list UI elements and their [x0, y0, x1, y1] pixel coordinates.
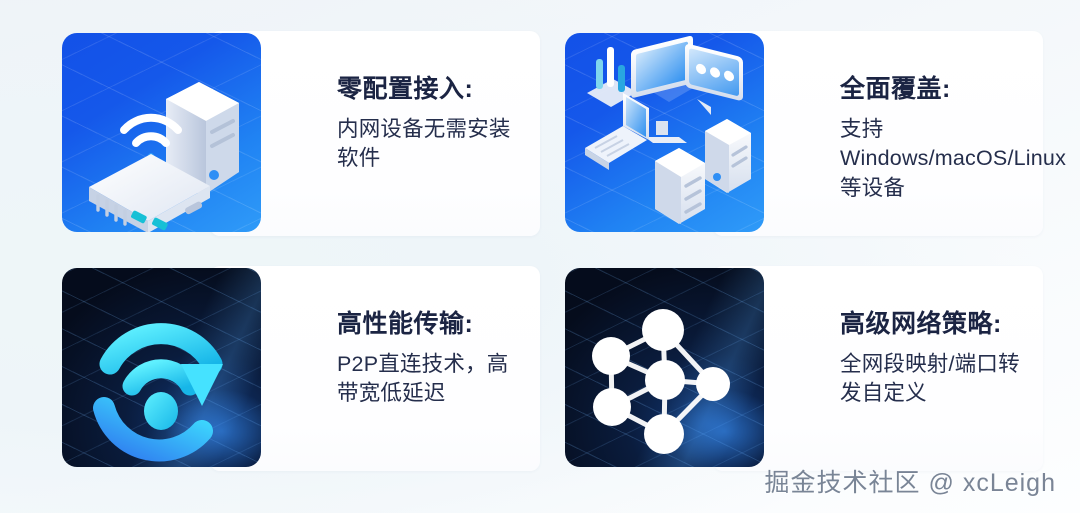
- card-text-block: 零配置接入: 内网设备无需安装软件: [261, 33, 521, 232]
- card-title: 高性能传输:: [337, 310, 521, 339]
- multi-device-icon: [565, 33, 764, 232]
- card-image-tile: [62, 268, 261, 467]
- network-nodes-icon: [565, 268, 764, 467]
- wifi-refresh-icon: [62, 268, 261, 467]
- feature-card-zero-config[interactable]: 零配置接入: 内网设备无需安装软件: [62, 33, 521, 232]
- feature-card-full-coverage[interactable]: 全面覆盖: 支持Windows/macOS/Linux等设备: [565, 33, 1024, 232]
- card-text-block: 高级网络策略: 全网段映射/端口转发自定义: [764, 268, 1024, 467]
- card-image-tile: [565, 33, 764, 232]
- card-body: 全网段映射/端口转发自定义: [840, 350, 1024, 409]
- card-image-tile: [62, 33, 261, 232]
- card-text-block: 全面覆盖: 支持Windows/macOS/Linux等设备: [764, 33, 1066, 232]
- card-title: 高级网络策略:: [840, 310, 1024, 339]
- router-server-wifi-icon: [62, 33, 261, 232]
- card-body: P2P直连技术，高带宽低延迟: [337, 350, 521, 409]
- watermark-text: 掘金技术社区 @ xcLeigh: [765, 463, 1056, 499]
- card-title: 零配置接入:: [337, 75, 521, 104]
- card-text-block: 高性能传输: P2P直连技术，高带宽低延迟: [261, 268, 521, 467]
- card-image-tile: [565, 268, 764, 467]
- card-body: 支持Windows/macOS/Linux等设备: [840, 115, 1066, 204]
- card-body: 内网设备无需安装软件: [337, 115, 521, 174]
- feature-card-high-performance[interactable]: 高性能传输: P2P直连技术，高带宽低延迟: [62, 268, 521, 467]
- feature-card-grid: 零配置接入: 内网设备无需安装软件: [62, 33, 1024, 467]
- feature-grid-page: 零配置接入: 内网设备无需安装软件: [0, 0, 1080, 513]
- card-title: 全面覆盖:: [840, 75, 1066, 104]
- feature-card-advanced-policy[interactable]: 高级网络策略: 全网段映射/端口转发自定义: [565, 268, 1024, 467]
